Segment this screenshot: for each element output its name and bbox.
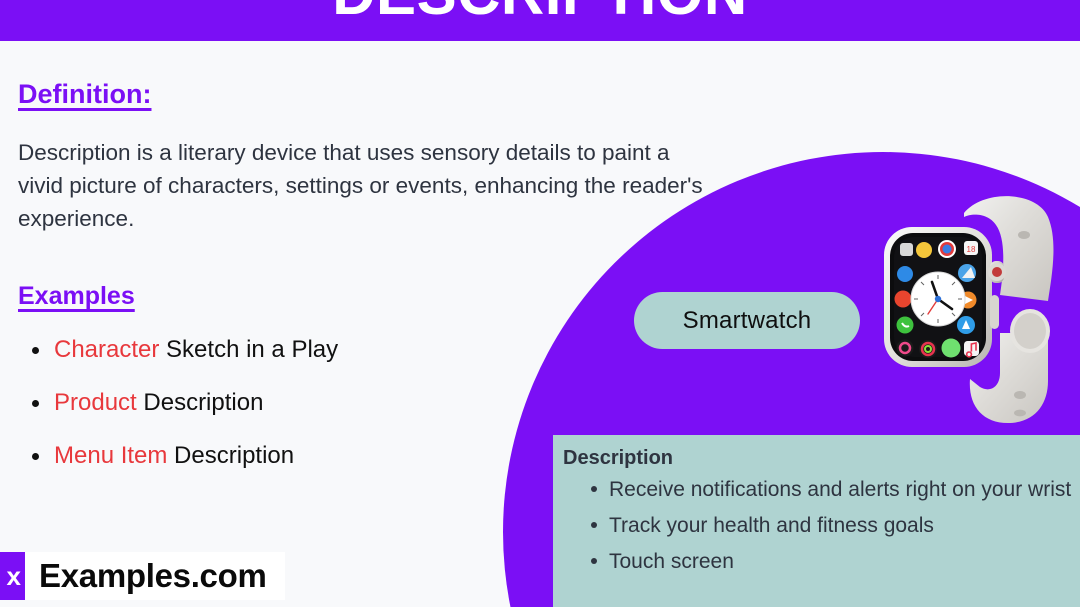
list-item: Touch screen — [563, 546, 1080, 577]
examples-list: Character Sketch in a Play Product Descr… — [18, 335, 738, 471]
example-rest: Description — [167, 442, 294, 469]
example-rest: Sketch in a Play — [159, 336, 338, 363]
main-content: Definition: Description is a literary de… — [18, 55, 738, 494]
example-key: Character — [54, 336, 159, 363]
definition-heading: Definition: — [18, 79, 151, 110]
definition-body: Description is a literary device that us… — [18, 136, 718, 235]
brand-name: Examples.com — [39, 557, 267, 595]
list-item: Track your health and fitness goals — [563, 510, 1080, 541]
slide-canvas: DESCRIPTION — [0, 0, 1080, 607]
page-title: DESCRIPTION — [0, 0, 1080, 24]
list-item: Character Sketch in a Play — [18, 335, 738, 365]
header-band: DESCRIPTION — [0, 0, 1080, 41]
brand-logo[interactable]: x Examples.com — [0, 552, 285, 600]
brand-mark-icon: x — [0, 552, 25, 600]
list-item: Menu Item Description — [18, 441, 738, 471]
example-rest: Description — [137, 389, 264, 416]
list-item: Product Description — [18, 388, 738, 418]
examples-heading: Examples — [18, 282, 135, 311]
smartwatch-image: 18 — [872, 183, 1080, 431]
example-key: Product — [54, 389, 137, 416]
example-key: Menu Item — [54, 442, 167, 469]
svg-text:18: 18 — [967, 245, 976, 254]
